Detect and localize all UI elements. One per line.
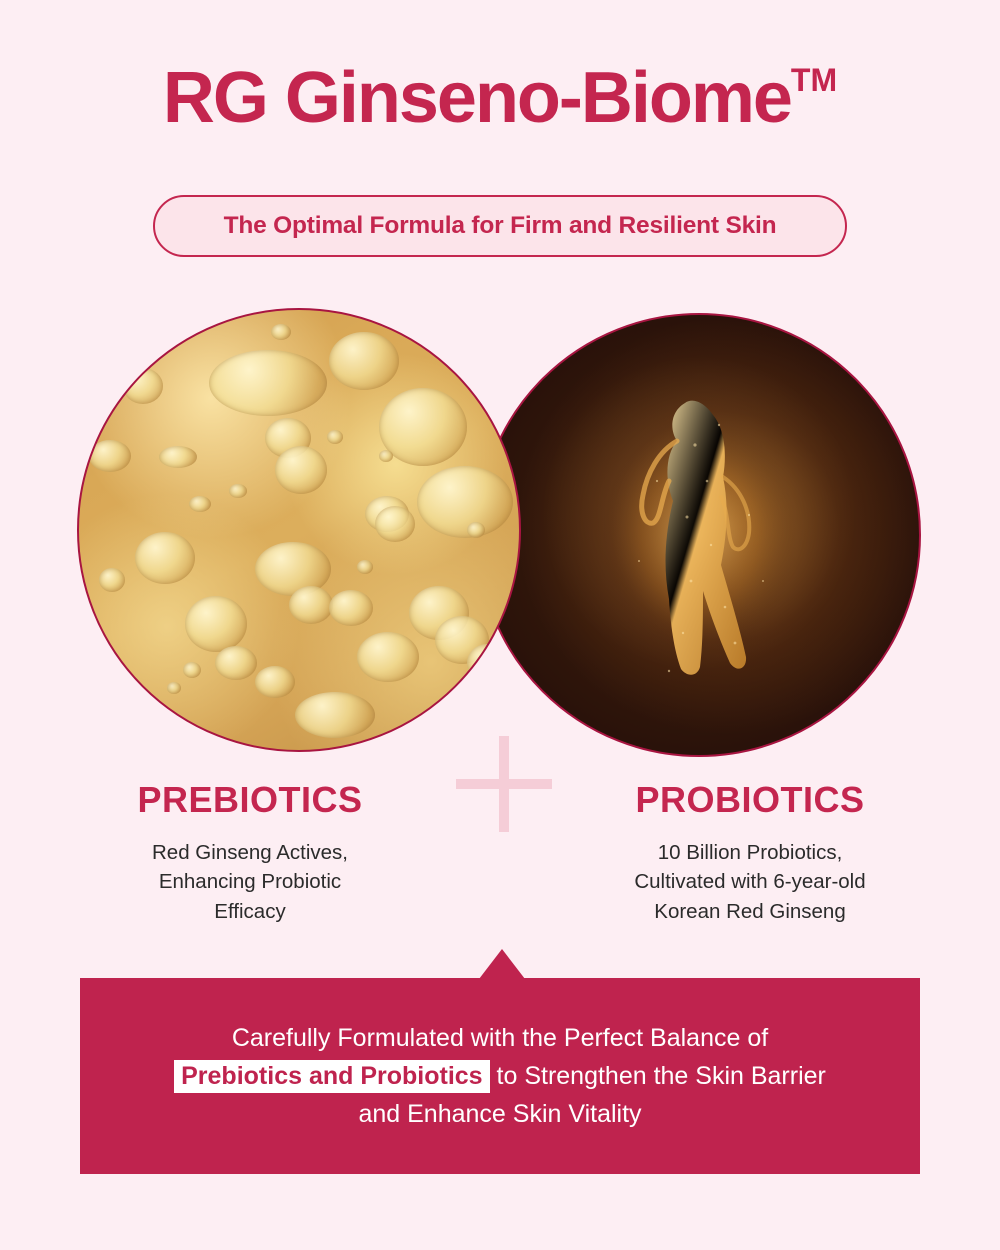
probiotics-column: PROBIOTICS 10 Billion Probiotics, Cultiv…	[500, 780, 1000, 927]
banner-line-2-rest: to Strengthen the Skin Barrier	[490, 1062, 826, 1090]
prebiotics-circle-image	[77, 308, 521, 752]
banner-line-1: Carefully Formulated with the Perfect Ba…	[232, 1019, 768, 1057]
plus-icon	[456, 736, 552, 832]
prebiotics-column: PREBIOTICS Red Ginseng Actives, Enhancin…	[0, 780, 500, 927]
highlight-chip: Prebiotics and Probiotics	[174, 1060, 489, 1093]
summary-banner-content: Carefully Formulated with the Perfect Ba…	[80, 978, 920, 1174]
probiotics-circle-image	[477, 313, 921, 757]
banner-line-3: and Enhance Skin Vitality	[358, 1095, 641, 1133]
ginseng-root-icon	[599, 385, 799, 685]
banner-line-2: Prebiotics and Probiotics to Strengthen …	[174, 1057, 826, 1095]
probiotics-description: 10 Billion Probiotics, Cultivated with 6…	[500, 838, 1000, 927]
promo-page: RG Ginseno-BiomeTM The Optimal Formula f…	[0, 0, 1000, 1250]
probiotics-heading: PROBIOTICS	[500, 780, 1000, 820]
prebiotics-heading: PREBIOTICS	[0, 780, 500, 820]
banner-notch	[479, 949, 525, 979]
prebiotics-description: Red Ginseng Actives, Enhancing Probiotic…	[0, 838, 500, 927]
